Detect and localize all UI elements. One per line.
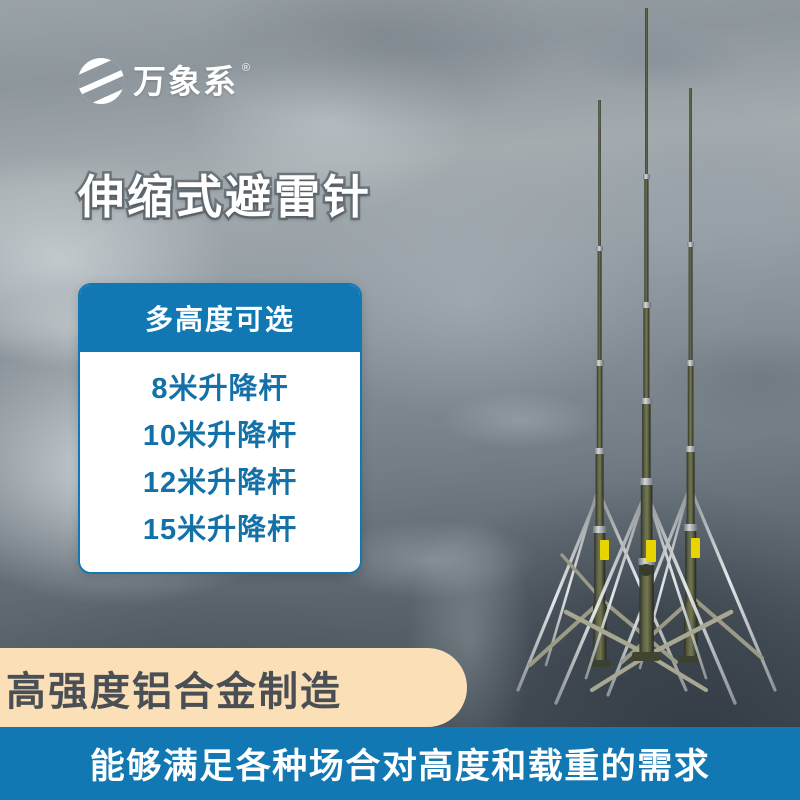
- mast-left-section-4: [596, 450, 604, 532]
- registered-trademark-icon: ®: [242, 63, 252, 74]
- mast-left: [518, 100, 686, 690]
- list-item[interactable]: 8米升降杆: [80, 366, 360, 413]
- mast-center-section-4: [642, 400, 650, 484]
- mast-right-section-1: [689, 88, 692, 246]
- mast-left-section-2: [598, 248, 602, 366]
- benefit-banner-text: 能够满足各种场合对高度和载重的需求: [90, 738, 711, 789]
- mast-left-section-1: [598, 100, 601, 250]
- mast-center-section-1: [645, 8, 648, 178]
- brand-name: 万象系®: [133, 65, 252, 98]
- material-banner: 高强度铝合金制造: [0, 648, 467, 727]
- mast-center: [556, 8, 735, 703]
- product-banner: 万象系® 伸缩式避雷针 多高度可选 8米升降杆 10米升降杆 12米升降杆 15…: [0, 0, 800, 800]
- mast-right-section-2: [689, 244, 693, 366]
- mast-left-section-3: [597, 362, 603, 454]
- list-item[interactable]: 15米升降杆: [80, 507, 360, 554]
- benefit-banner: 能够满足各种场合对高度和载重的需求: [0, 727, 800, 800]
- mast-center-winch: [639, 564, 653, 576]
- heights-card-header: 多高度可选: [80, 285, 360, 352]
- mast-center-section-2: [644, 176, 648, 306]
- mast-right-warning-label: [691, 538, 700, 558]
- list-item[interactable]: 12米升降杆: [80, 460, 360, 507]
- mast-left-warning-label: [600, 540, 609, 560]
- mast-center-warning-label: [646, 540, 656, 562]
- material-banner-text: 高强度铝合金制造: [0, 659, 342, 717]
- brand-logo: 万象系®: [78, 58, 252, 104]
- heights-card-body: 8米升降杆 10米升降杆 12米升降杆 15米升降杆: [80, 352, 360, 572]
- list-item[interactable]: 10米升降杆: [80, 413, 360, 460]
- mast-right-section-4: [687, 448, 695, 530]
- mast-center-section-3: [643, 304, 649, 404]
- heights-card: 多高度可选 8米升降杆 10米升降杆 12米升降杆 15米升降杆: [78, 283, 362, 574]
- circular-swoosh-logo-icon: [78, 58, 124, 104]
- mast-right-section-3: [688, 362, 694, 452]
- page-title: 伸缩式避雷针: [78, 172, 372, 223]
- mast-center-base-plate: [632, 652, 660, 661]
